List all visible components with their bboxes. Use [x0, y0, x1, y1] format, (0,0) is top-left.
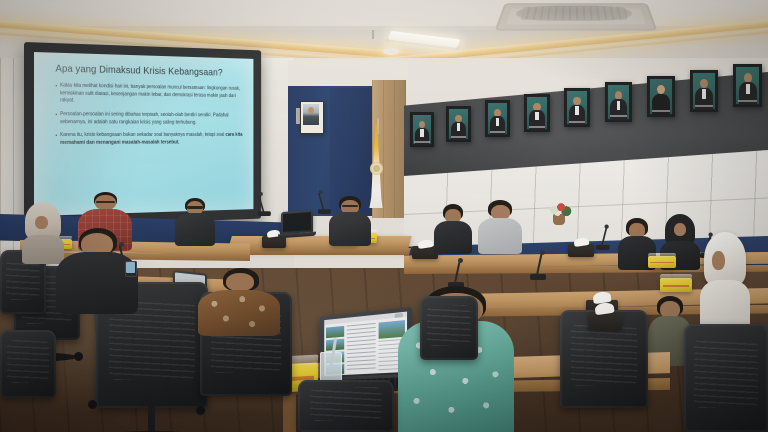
- eyeglasses: [342, 205, 359, 208]
- portrait-5: [564, 88, 590, 127]
- side-portrait-head: [308, 107, 314, 114]
- eyeglasses: [96, 201, 115, 204]
- eyeglasses: [187, 206, 203, 208]
- portrait-9: [733, 64, 762, 107]
- conference-table-back-edge: [229, 248, 411, 255]
- text-column: [347, 323, 376, 373]
- office-chair[interactable]: [420, 296, 478, 360]
- chair-wheel: [74, 352, 83, 361]
- thumbnail: [326, 326, 344, 338]
- office-chair[interactable]: [684, 324, 768, 432]
- chair-wheel: [196, 406, 205, 415]
- attendee-dark-back: [434, 204, 472, 254]
- smartphone-screen: [126, 262, 135, 273]
- screen-glare: [34, 52, 253, 216]
- projector-screen: Apa yang Dimaksud Krisis Kebangsaan? •Ka…: [34, 52, 253, 216]
- led-light-stem: [372, 30, 374, 39]
- table-leg: [283, 390, 296, 432]
- office-chair[interactable]: [0, 330, 56, 398]
- snack-box: [648, 256, 676, 268]
- portrait-6: [605, 82, 632, 122]
- snack-box: [660, 278, 692, 292]
- portrait-8: [690, 70, 718, 112]
- attendee-white-hijab: [700, 232, 750, 328]
- portrait-2: [446, 106, 471, 142]
- portrait-4: [524, 94, 550, 132]
- portrait-7: [647, 76, 675, 117]
- attendee-back-left: [174, 198, 216, 246]
- chair-wheel: [88, 400, 97, 409]
- attendee-black-tshirt: [56, 228, 138, 314]
- attendee-grey-shirt: [478, 200, 522, 254]
- attendee-batik: [198, 268, 280, 336]
- batik-pattern: [198, 290, 280, 336]
- air-conditioner-grill: [520, 7, 628, 20]
- portrait-1: [410, 112, 434, 147]
- office-chair[interactable]: [298, 380, 394, 432]
- meeting-room-photo: Apa yang Dimaksud Krisis Kebangsaan? •Ka…: [0, 0, 768, 432]
- tissue-box: [588, 312, 622, 330]
- tissue-box: [568, 244, 594, 257]
- portrait-3: [485, 100, 510, 137]
- attendee-back-center: [328, 196, 372, 246]
- flag-emblem-inner: [373, 165, 380, 172]
- flower-arrangement: [546, 200, 572, 218]
- downlight: [383, 48, 399, 55]
- laptop[interactable]: [281, 210, 313, 234]
